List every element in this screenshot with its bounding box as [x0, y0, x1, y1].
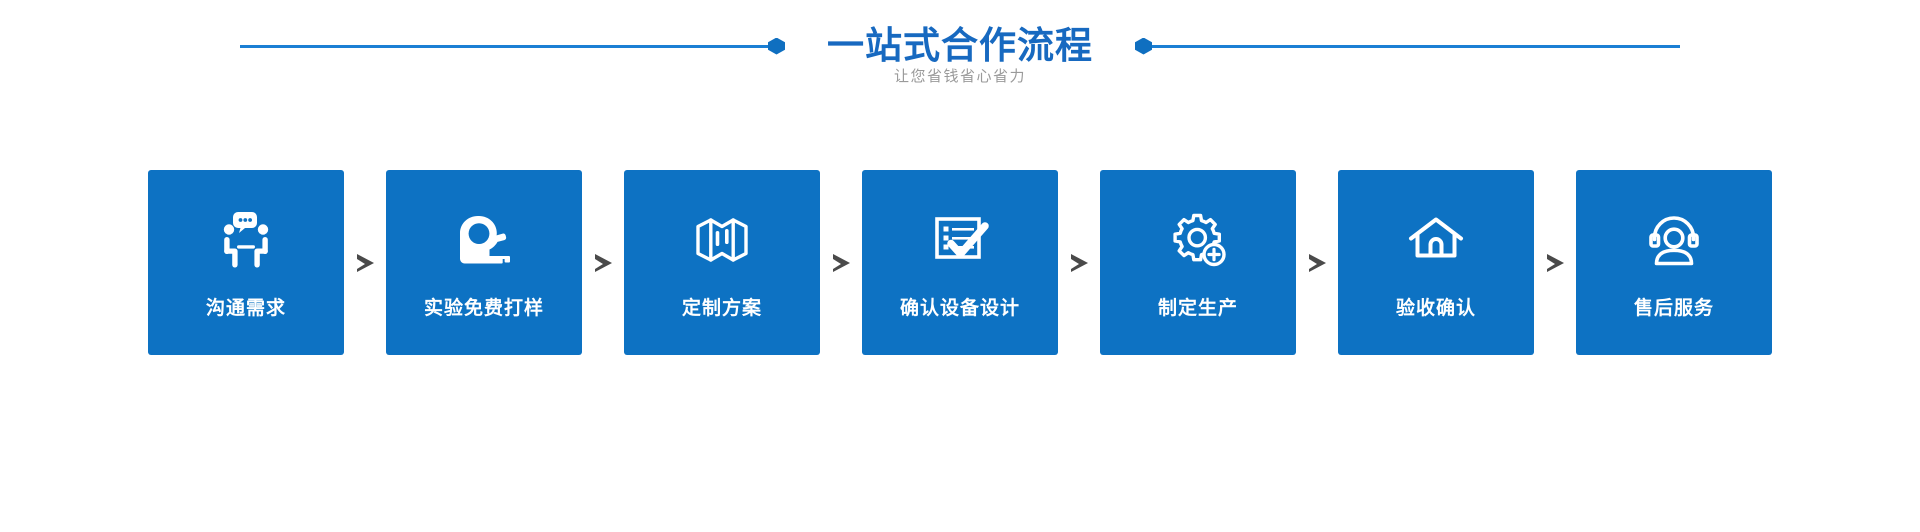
- process-step-label: 制定生产: [1158, 296, 1238, 322]
- process-step-card-1[interactable]: 沟通需求: [148, 170, 344, 355]
- triangle-right-icon: [1309, 254, 1326, 272]
- gear-plus-icon: [1162, 204, 1234, 276]
- process-step-label: 售后服务: [1634, 296, 1714, 322]
- triangle-right-icon: [357, 254, 374, 272]
- process-step-list: 沟通需求 实验免费打样: [0, 170, 1920, 355]
- title-row: 一站式合作流程: [0, 20, 1920, 72]
- house-icon: [1400, 204, 1472, 276]
- page-subtitle: 让您省钱省心省力: [0, 66, 1920, 88]
- page-header: 一站式合作流程 让您省钱省心省力: [0, 0, 1920, 120]
- flow-arrow-2: [582, 170, 624, 355]
- process-step-card-3[interactable]: 定制方案: [624, 170, 820, 355]
- process-step-card-5[interactable]: 制定生产: [1100, 170, 1296, 355]
- folded-map-icon: [686, 204, 758, 276]
- title-wrapper: 一站式合作流程: [785, 24, 1135, 68]
- process-step-label: 验收确认: [1396, 296, 1476, 322]
- decoration-line-left: [240, 45, 770, 48]
- process-step-label: 实验免费打样: [424, 296, 544, 322]
- flow-arrow-6: [1534, 170, 1576, 355]
- process-step-card-7[interactable]: 售后服务: [1576, 170, 1772, 355]
- page-title: 一站式合作流程: [827, 24, 1093, 68]
- triangle-right-icon: [1071, 254, 1088, 272]
- process-step-label: 确认设备设计: [900, 296, 1020, 322]
- people-talking-icon: [210, 204, 282, 276]
- process-step-card-2[interactable]: 实验免费打样: [386, 170, 582, 355]
- flow-arrow-4: [1058, 170, 1100, 355]
- process-step-card-6[interactable]: 验收确认: [1338, 170, 1534, 355]
- flow-arrow-3: [820, 170, 862, 355]
- triangle-right-icon: [1547, 254, 1564, 272]
- decoration-line-right: [1150, 45, 1680, 48]
- triangle-right-icon: [595, 254, 612, 272]
- process-step-label: 沟通需求: [206, 296, 286, 322]
- flow-arrow-5: [1296, 170, 1338, 355]
- triangle-right-icon: [833, 254, 850, 272]
- diamond-icon-left: [768, 38, 785, 55]
- process-flow-page: 一站式合作流程 让您省钱省心省力: [0, 0, 1920, 532]
- process-step-card-4[interactable]: 确认设备设计: [862, 170, 1058, 355]
- headset-support-icon: [1638, 204, 1710, 276]
- flow-arrow-1: [344, 170, 386, 355]
- decoration-left: [240, 36, 785, 56]
- decoration-right: [1135, 36, 1680, 56]
- process-step-label: 定制方案: [682, 296, 762, 322]
- checklist-check-icon: [924, 204, 996, 276]
- diamond-icon-right: [1135, 38, 1152, 55]
- tape-measure-icon: [448, 204, 520, 276]
